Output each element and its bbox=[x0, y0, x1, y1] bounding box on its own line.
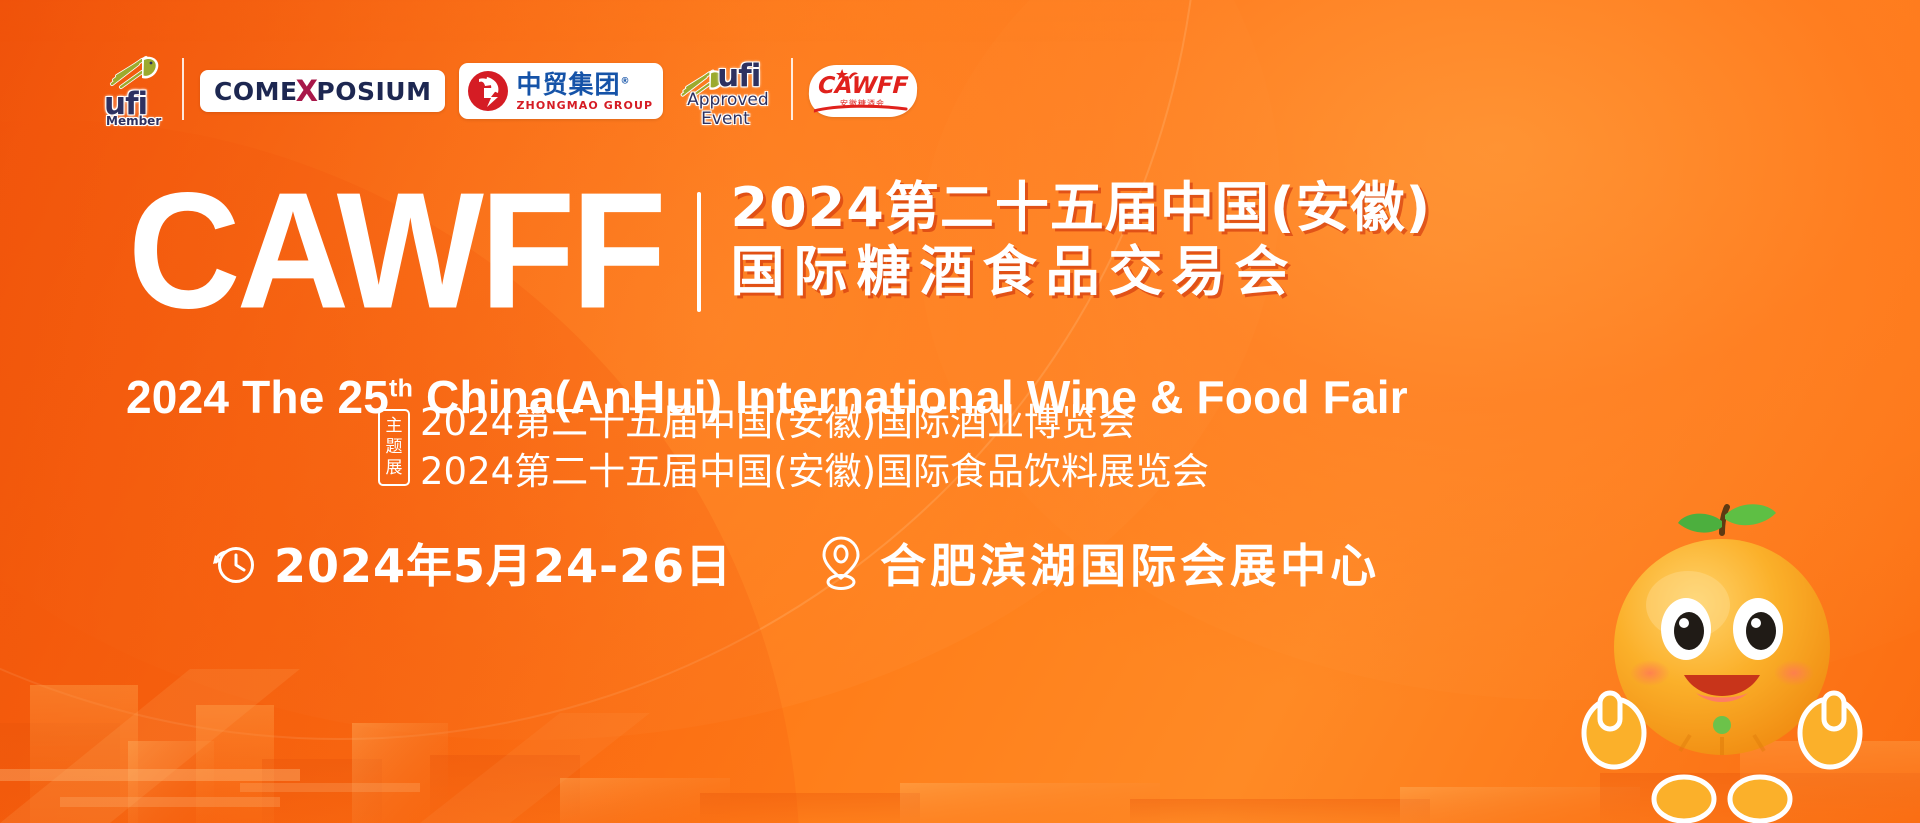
mascot-foot-right bbox=[1730, 777, 1790, 821]
mascot-cheek-left bbox=[1630, 660, 1670, 686]
zhongmao-dragon-icon bbox=[467, 69, 509, 113]
event-venue-text: 合肥滨湖国际会展中心 bbox=[880, 530, 1380, 596]
logo-comexposium[interactable]: COME X POSIUM bbox=[200, 52, 445, 130]
event-date-text: 2024年5月24-26日 bbox=[274, 530, 732, 596]
event-date-item: 2024年5月24-26日 bbox=[212, 530, 732, 596]
mascot-cheek-right bbox=[1774, 660, 1814, 686]
page-title-acronym: CAWFF bbox=[128, 176, 663, 328]
ufi-approved-line2: Event bbox=[701, 109, 750, 129]
zhongmao-english-name: ZHONGMAO GROUP bbox=[516, 100, 653, 111]
ufi-approved-wordmark: ufi bbox=[717, 58, 760, 94]
zhongmao-chinese-name: 中贸集团® bbox=[516, 72, 653, 97]
logo-divider-1 bbox=[182, 58, 184, 120]
partner-logo-bar: ufi Member COME X POSIUM bbox=[104, 52, 917, 130]
mascot-leaf-left bbox=[1678, 514, 1722, 533]
subtitle-prefix: 2024 The 25 bbox=[126, 371, 389, 423]
mascot-stem bbox=[1722, 507, 1727, 533]
mascot-foot-left bbox=[1654, 777, 1714, 821]
page-title-chinese: 2024第二十五届中国(安徽) 国际糖酒食品交易会 bbox=[731, 176, 1432, 303]
location-pin-icon bbox=[818, 536, 864, 590]
theme-tag-badge: 主 题 展 bbox=[378, 409, 410, 486]
cawff-star-icon bbox=[836, 69, 859, 81]
cawff-event-banner: ufi Member COME X POSIUM bbox=[0, 0, 1920, 823]
ufi-bird-icon bbox=[108, 54, 164, 90]
logo-divider-2 bbox=[791, 58, 793, 120]
logo-cawff-mark[interactable]: CAWFF 安徽糖酒会 bbox=[809, 52, 917, 130]
event-venue-item: 合肥滨湖国际会展中心 bbox=[818, 530, 1380, 596]
event-info-row: 2024年5月24-26日 合肥滨湖国际会展中心 bbox=[212, 530, 1380, 596]
cawff-mark-text: CAWFF bbox=[818, 75, 909, 98]
theme-exhibitions-block: 主 题 展 2024第二十五届中国(安徽)国际酒业博览会 2024第二十五届中国… bbox=[378, 400, 1209, 494]
ufi-member-label: Member bbox=[106, 114, 161, 128]
mascot-leaf-right bbox=[1725, 504, 1776, 525]
subtitle-ordinal: th bbox=[389, 375, 413, 403]
logo-ufi-approved-event[interactable]: ufi Approved Event bbox=[679, 52, 775, 130]
title-separator bbox=[697, 192, 701, 312]
orange-mascot bbox=[1572, 497, 1872, 823]
theme-tag-char-3: 展 bbox=[386, 459, 403, 478]
theme-line-wine-expo: 2024第二十五届中国(安徽)国际酒业博览会 bbox=[420, 400, 1209, 445]
registered-mark-icon: ® bbox=[621, 76, 631, 86]
page-title-chinese-line1: 2024第二十五届中国(安徽) bbox=[731, 176, 1432, 240]
mascot-pupil-right bbox=[1746, 612, 1776, 650]
cawff-swoosh-icon bbox=[814, 104, 911, 114]
mascot-pupil-left bbox=[1674, 612, 1704, 650]
mascot-eye-glint-right bbox=[1751, 618, 1761, 628]
clock-icon bbox=[212, 540, 258, 586]
mascot-eye-glint-left bbox=[1679, 618, 1689, 628]
mascot-navel-leaf bbox=[1713, 716, 1731, 734]
theme-tag-char-1: 主 bbox=[386, 417, 403, 436]
main-title-row: CAWFF 2024第二十五届中国(安徽) 国际糖酒食品交易会 bbox=[128, 176, 1431, 320]
ufi-approved-line1: Approved bbox=[687, 90, 769, 110]
theme-tag-char-2: 题 bbox=[386, 438, 403, 457]
logo-zhongmao-group[interactable]: 中贸集团® ZHONGMAO GROUP bbox=[459, 52, 663, 130]
page-title-chinese-line2: 国际糖酒食品交易会 bbox=[731, 240, 1432, 304]
comexposium-part2: POSIUM bbox=[316, 77, 431, 106]
logo-ufi-member[interactable]: ufi Member bbox=[104, 52, 166, 130]
theme-line-food-expo: 2024第二十五届中国(安徽)国际食品饮料展览会 bbox=[420, 449, 1209, 494]
comexposium-x-mark: X bbox=[296, 74, 319, 108]
comexposium-part1: COME bbox=[214, 77, 298, 106]
